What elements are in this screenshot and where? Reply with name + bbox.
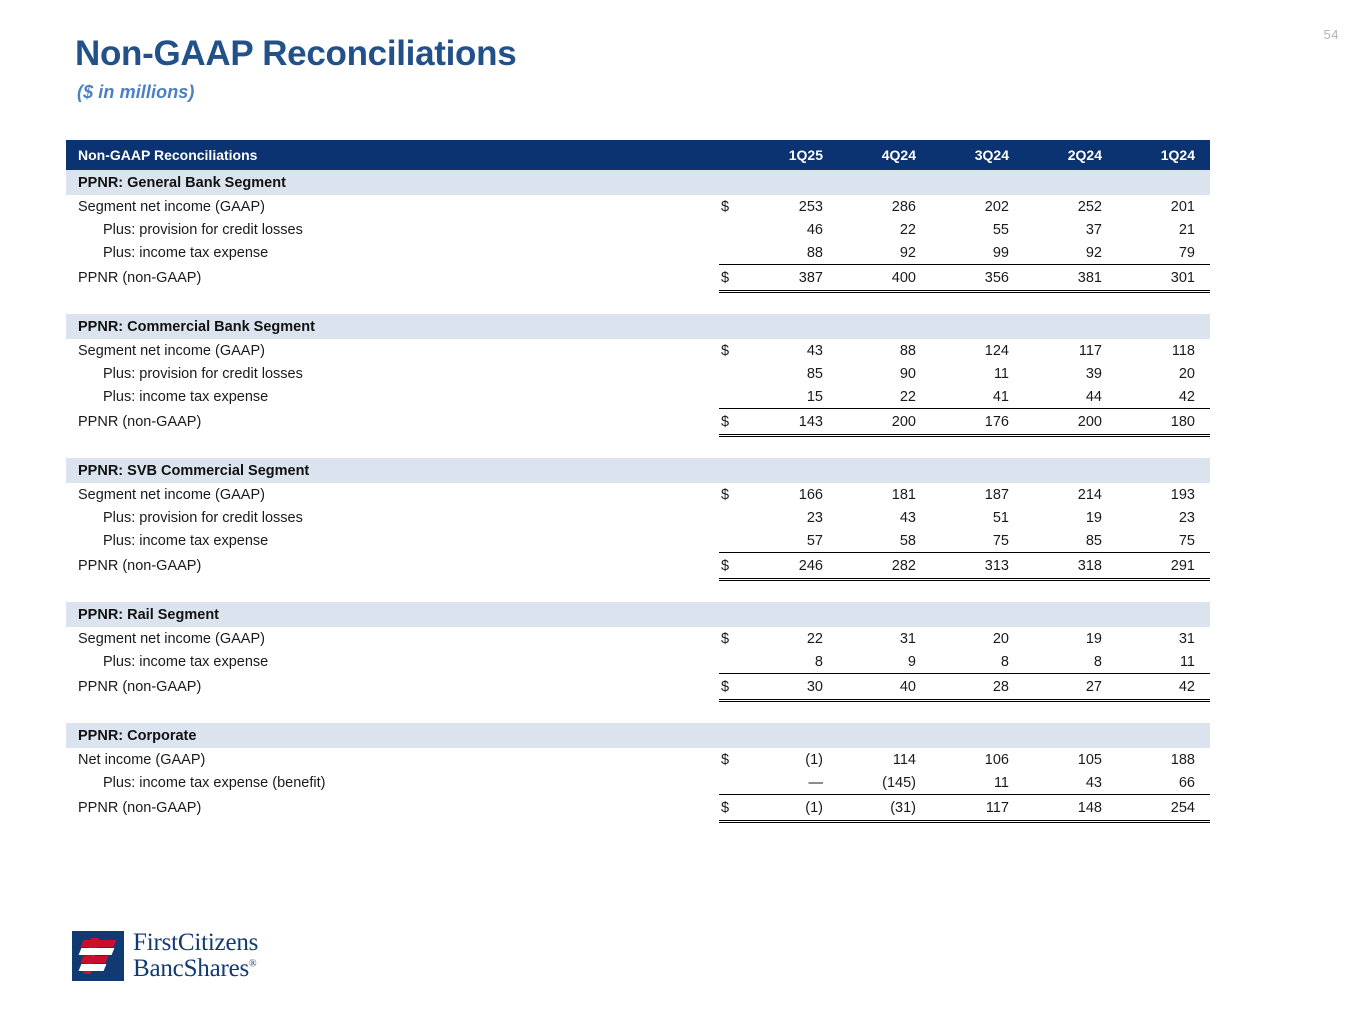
total-cell-value: 282	[838, 553, 931, 580]
total-cell-value: 42	[1117, 674, 1210, 701]
cell-value: 37	[1024, 218, 1117, 241]
total-cell-value: (1)	[745, 795, 838, 822]
column-header-4q24: 4Q24	[838, 140, 931, 170]
cell-value: 117	[1024, 339, 1117, 362]
total-cell-value: 176	[931, 409, 1024, 436]
cell-value: 57	[745, 529, 838, 553]
cell-value: 31	[1117, 627, 1210, 650]
cell-value: 75	[931, 529, 1024, 553]
table-row: Segment net income (GAAP)$16618118721419…	[66, 483, 1210, 506]
cell-value: 253	[745, 195, 838, 218]
cell-value: 19	[1024, 627, 1117, 650]
row-label: Net income (GAAP)	[66, 748, 719, 771]
table-header-row: Non-GAAP Reconciliations1Q254Q243Q242Q24…	[66, 140, 1210, 170]
title-block: Non-GAAP Reconciliations ($ in millions)	[75, 36, 516, 103]
cell-value: 99	[931, 241, 1024, 265]
cell-value: 11	[931, 362, 1024, 385]
cell-value: 44	[1024, 385, 1117, 409]
total-cell-value: 117	[931, 795, 1024, 822]
currency-symbol: $	[719, 195, 745, 218]
table-total-row: PPNR (non-GAAP)$246282313318291	[66, 553, 1210, 580]
cell-value: 214	[1024, 483, 1117, 506]
cell-value: 252	[1024, 195, 1117, 218]
non-gaap-reconciliation-table: Non-GAAP Reconciliations1Q254Q243Q242Q24…	[66, 140, 1210, 823]
total-cell-value: 254	[1117, 795, 1210, 822]
company-logo: FirstCitizens BancShares®	[72, 930, 258, 981]
currency-symbol	[719, 506, 745, 529]
table-row: Plus: provision for credit losses2343511…	[66, 506, 1210, 529]
cell-value: 105	[1024, 748, 1117, 771]
cell-value: 92	[1024, 241, 1117, 265]
total-row-label: PPNR (non-GAAP)	[66, 409, 719, 436]
cell-value: 11	[931, 771, 1024, 795]
cell-value: 15	[745, 385, 838, 409]
cell-value: 42	[1117, 385, 1210, 409]
column-header-2q24: 2Q24	[1024, 140, 1117, 170]
cell-value: 114	[838, 748, 931, 771]
row-label: Plus: income tax expense	[66, 650, 719, 674]
table-row: Plus: income tax expense898811	[66, 650, 1210, 674]
cell-value: 11	[1117, 650, 1210, 674]
logo-line-1: FirstCitizens	[133, 930, 258, 956]
section-title: PPNR: Corporate	[66, 723, 1210, 748]
total-cell-value: 291	[1117, 553, 1210, 580]
currency-symbol: $	[719, 627, 745, 650]
section-header-row: PPNR: Corporate	[66, 723, 1210, 748]
section-header-row: PPNR: General Bank Segment	[66, 170, 1210, 195]
table-header-label: Non-GAAP Reconciliations	[66, 140, 745, 170]
currency-symbol: $	[719, 265, 745, 292]
cell-value: 118	[1117, 339, 1210, 362]
first-citizens-logo-mark	[72, 931, 124, 981]
cell-value: 124	[931, 339, 1024, 362]
cell-value: 21	[1117, 218, 1210, 241]
total-cell-value: 318	[1024, 553, 1117, 580]
cell-value: 39	[1024, 362, 1117, 385]
cell-value: 8	[1024, 650, 1117, 674]
logo-line-2-text: BancShares	[133, 955, 249, 982]
total-cell-value: 30	[745, 674, 838, 701]
total-row-label: PPNR (non-GAAP)	[66, 553, 719, 580]
table-row: Segment net income (GAAP)$25328620225220…	[66, 195, 1210, 218]
section-title: PPNR: Commercial Bank Segment	[66, 314, 1210, 339]
row-label: Plus: provision for credit losses	[66, 218, 719, 241]
cell-value: 88	[745, 241, 838, 265]
cell-value: 90	[838, 362, 931, 385]
cell-value: 23	[745, 506, 838, 529]
total-cell-value: 246	[745, 553, 838, 580]
currency-symbol: $	[719, 674, 745, 701]
logo-wordmark: FirstCitizens BancShares®	[133, 930, 258, 981]
cell-value: 166	[745, 483, 838, 506]
total-cell-value: 400	[838, 265, 931, 292]
cell-value: 51	[931, 506, 1024, 529]
section-spacer	[66, 701, 1210, 724]
cell-value: 23	[1117, 506, 1210, 529]
cell-value: 181	[838, 483, 931, 506]
cell-value: 66	[1117, 771, 1210, 795]
cell-value: 22	[838, 218, 931, 241]
currency-symbol	[719, 241, 745, 265]
row-label: Plus: income tax expense	[66, 241, 719, 265]
registered-mark: ®	[249, 958, 256, 969]
cell-value: 286	[838, 195, 931, 218]
cell-value: 43	[1024, 771, 1117, 795]
cell-value: 85	[745, 362, 838, 385]
table-row: Segment net income (GAAP)$2231201931	[66, 627, 1210, 650]
total-cell-value: 387	[745, 265, 838, 292]
row-label: Plus: income tax expense	[66, 385, 719, 409]
currency-symbol	[719, 650, 745, 674]
cell-value: 193	[1117, 483, 1210, 506]
column-header-3q24: 3Q24	[931, 140, 1024, 170]
total-row-label: PPNR (non-GAAP)	[66, 265, 719, 292]
section-header-row: PPNR: Rail Segment	[66, 602, 1210, 627]
total-cell-value: 143	[745, 409, 838, 436]
cell-value: 31	[838, 627, 931, 650]
table-row: Plus: income tax expense5758758575	[66, 529, 1210, 553]
row-label: Plus: income tax expense	[66, 529, 719, 553]
cell-value: 8	[745, 650, 838, 674]
currency-symbol	[719, 529, 745, 553]
row-label: Segment net income (GAAP)	[66, 627, 719, 650]
cell-value: (1)	[745, 748, 838, 771]
cell-value: 46	[745, 218, 838, 241]
cell-value: —	[745, 771, 838, 795]
cell-value: 43	[838, 506, 931, 529]
total-row-label: PPNR (non-GAAP)	[66, 795, 719, 822]
section-header-row: PPNR: Commercial Bank Segment	[66, 314, 1210, 339]
column-header-1q25: 1Q25	[745, 140, 838, 170]
total-row-label: PPNR (non-GAAP)	[66, 674, 719, 701]
column-header-1q24: 1Q24	[1117, 140, 1210, 170]
total-cell-value: 27	[1024, 674, 1117, 701]
table-row: Plus: provision for credit losses8590113…	[66, 362, 1210, 385]
section-title: PPNR: SVB Commercial Segment	[66, 458, 1210, 483]
cell-value: 106	[931, 748, 1024, 771]
cell-value: 188	[1117, 748, 1210, 771]
row-label: Plus: income tax expense (benefit)	[66, 771, 719, 795]
total-cell-value: 200	[838, 409, 931, 436]
cell-value: 55	[931, 218, 1024, 241]
total-cell-value: 180	[1117, 409, 1210, 436]
cell-value: 201	[1117, 195, 1210, 218]
table-row: Net income (GAAP)$(1)114106105188	[66, 748, 1210, 771]
logo-line-2: BancShares®	[133, 956, 258, 982]
cell-value: 85	[1024, 529, 1117, 553]
currency-symbol	[719, 218, 745, 241]
cell-value: 202	[931, 195, 1024, 218]
section-header-row: PPNR: SVB Commercial Segment	[66, 458, 1210, 483]
cell-value: 20	[1117, 362, 1210, 385]
page-subtitle: ($ in millions)	[77, 82, 516, 103]
cell-value: 8	[931, 650, 1024, 674]
cell-value: 9	[838, 650, 931, 674]
table-total-row: PPNR (non-GAAP)$3040282742	[66, 674, 1210, 701]
currency-symbol	[719, 362, 745, 385]
currency-symbol: $	[719, 409, 745, 436]
cell-value: 19	[1024, 506, 1117, 529]
total-cell-value: (31)	[838, 795, 931, 822]
currency-symbol	[719, 771, 745, 795]
total-cell-value: 40	[838, 674, 931, 701]
table-row: Plus: income tax expense1522414442	[66, 385, 1210, 409]
cell-value: 41	[931, 385, 1024, 409]
currency-symbol: $	[719, 795, 745, 822]
cell-value: 22	[838, 385, 931, 409]
currency-symbol: $	[719, 483, 745, 506]
row-label: Plus: provision for credit losses	[66, 506, 719, 529]
table-total-row: PPNR (non-GAAP)$387400356381301	[66, 265, 1210, 292]
cell-value: 20	[931, 627, 1024, 650]
section-spacer	[66, 292, 1210, 315]
row-label: Segment net income (GAAP)	[66, 483, 719, 506]
cell-value: 22	[745, 627, 838, 650]
table-total-row: PPNR (non-GAAP)$143200176200180	[66, 409, 1210, 436]
total-cell-value: 28	[931, 674, 1024, 701]
section-spacer	[66, 580, 1210, 603]
table-row: Plus: income tax expense8892999279	[66, 241, 1210, 265]
cell-value: 79	[1117, 241, 1210, 265]
section-title: PPNR: General Bank Segment	[66, 170, 1210, 195]
total-cell-value: 301	[1117, 265, 1210, 292]
total-cell-value: 148	[1024, 795, 1117, 822]
page-number: 54	[1324, 27, 1339, 42]
total-cell-value: 313	[931, 553, 1024, 580]
cell-value: 187	[931, 483, 1024, 506]
currency-symbol: $	[719, 748, 745, 771]
cell-value: 75	[1117, 529, 1210, 553]
currency-symbol: $	[719, 339, 745, 362]
row-label: Plus: provision for credit losses	[66, 362, 719, 385]
row-label: Segment net income (GAAP)	[66, 339, 719, 362]
currency-symbol: $	[719, 553, 745, 580]
cell-value: 58	[838, 529, 931, 553]
section-title: PPNR: Rail Segment	[66, 602, 1210, 627]
total-cell-value: 381	[1024, 265, 1117, 292]
cell-value: 92	[838, 241, 931, 265]
table-row: Plus: income tax expense (benefit)—(145)…	[66, 771, 1210, 795]
total-cell-value: 200	[1024, 409, 1117, 436]
row-label: Segment net income (GAAP)	[66, 195, 719, 218]
section-spacer	[66, 436, 1210, 459]
table-total-row: PPNR (non-GAAP)$(1)(31)117148254	[66, 795, 1210, 822]
cell-value: 43	[745, 339, 838, 362]
page-title: Non-GAAP Reconciliations	[75, 36, 516, 73]
table-row: Segment net income (GAAP)$4388124117118	[66, 339, 1210, 362]
table-row: Plus: provision for credit losses4622553…	[66, 218, 1210, 241]
cell-value: 88	[838, 339, 931, 362]
total-cell-value: 356	[931, 265, 1024, 292]
currency-symbol	[719, 385, 745, 409]
cell-value: (145)	[838, 771, 931, 795]
